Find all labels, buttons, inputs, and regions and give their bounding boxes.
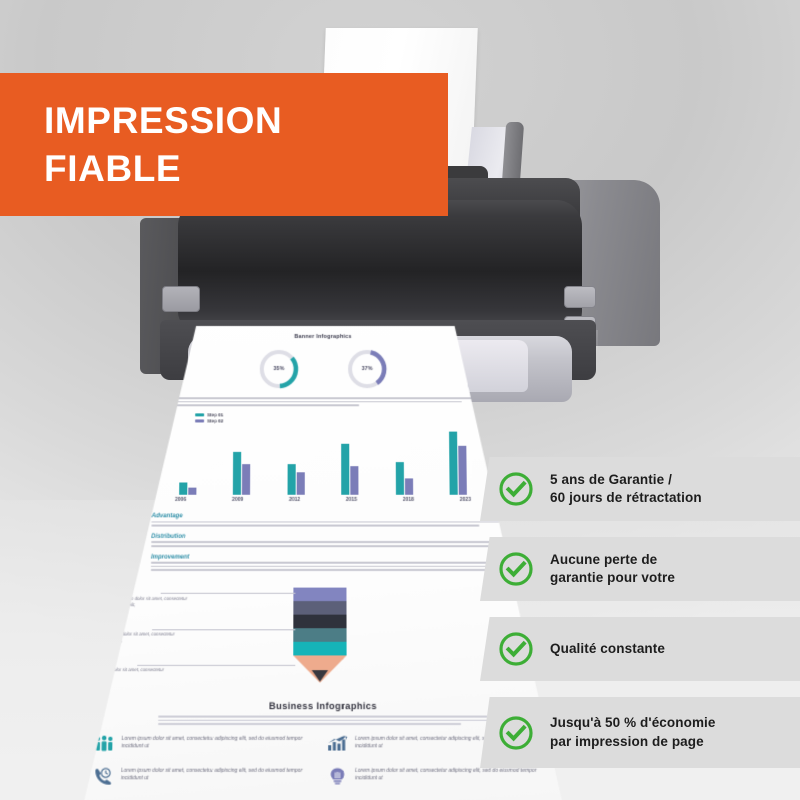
- pencil-graphic: [293, 588, 346, 682]
- donut-label: 35%: [257, 347, 301, 391]
- bar: [242, 464, 250, 495]
- chart-legend: Step 01 Step 02: [195, 412, 560, 424]
- panel-button-right-top-icon[interactable]: [564, 286, 596, 308]
- list-item: Lorem ipsum dolor sit amet, consectetur …: [326, 767, 554, 789]
- bar-chart-tick-label: 2012: [289, 497, 300, 503]
- bar: [287, 464, 295, 495]
- feature-label: Aucune perte de garantie pour votre: [550, 551, 675, 587]
- leader-line: [137, 665, 295, 666]
- bar: [405, 479, 413, 495]
- check-circle-icon: [498, 715, 534, 751]
- feature-item-savings[interactable]: Jusqu'à 50 % d'économie par impression d…: [480, 697, 800, 768]
- headline-line-2: FIABLE: [44, 145, 448, 192]
- bar-chart-tick-label: 2006: [175, 497, 186, 503]
- printer-main-body: [178, 200, 582, 330]
- feature-item-warranty[interactable]: 5 ans de Garantie / 60 jours de rétracta…: [480, 457, 800, 521]
- poster-canvas: Banner Infographics 35% 37%: [0, 0, 800, 800]
- feature-label: 5 ans de Garantie / 60 jours de rétracta…: [550, 471, 702, 507]
- feature-list: 5 ans de Garantie / 60 jours de rétracta…: [480, 457, 800, 768]
- icon-feature-text: Lorem ipsum dolor sit amet, consectetur …: [121, 735, 320, 751]
- donut-label: 37%: [345, 347, 389, 391]
- paper-feed-lip: [502, 122, 524, 184]
- leader-line: [152, 629, 295, 630]
- list-item: Lorem ipsum dolor sit amet, consectetur …: [92, 735, 320, 756]
- check-circle-icon: [498, 551, 534, 587]
- list-item: Lorem ipsum dolor sit amet, consectetur …: [92, 767, 320, 789]
- feature-item-quality[interactable]: Qualité constante: [480, 617, 800, 681]
- headline-banner: IMPRESSION FIABLE: [0, 73, 448, 216]
- bar-group: [395, 462, 412, 495]
- donut-chart: 35%: [257, 347, 301, 391]
- legend-item: Step 02: [195, 419, 560, 424]
- legend-label: Step 01: [207, 412, 223, 417]
- bar: [458, 446, 467, 495]
- phone-clock-icon: [92, 767, 115, 789]
- panel-button-left-icon[interactable]: [162, 286, 200, 312]
- feature-item-no-warranty-loss[interactable]: Aucune perte de garantie pour votre: [480, 537, 800, 601]
- pencil-lead-icon: [312, 670, 328, 682]
- headline-line-1: IMPRESSION: [44, 97, 448, 144]
- bar: [395, 462, 403, 495]
- bar-group: [179, 483, 196, 495]
- bar: [449, 432, 458, 495]
- legend-item: Step 01: [195, 412, 560, 417]
- legend-label: Step 02: [207, 419, 223, 424]
- bar-group: [233, 452, 250, 495]
- bar-chart-xaxis-labels: 200620092012201520182023: [171, 497, 475, 503]
- lightbulb-idea-icon: [326, 767, 349, 789]
- bar-chart-tick-label: 2009: [232, 497, 243, 503]
- bar-chart-growth-icon: [326, 735, 349, 756]
- feature-label: Qualité constante: [550, 640, 665, 658]
- bar: [188, 488, 196, 495]
- bar-group: [341, 444, 358, 495]
- bar-group: [449, 432, 467, 495]
- donut-chart: 37%: [345, 347, 389, 391]
- legend-swatch-icon: [195, 413, 204, 416]
- icon-feature-text: Lorem ipsum dolor sit amet, consectetur …: [355, 767, 554, 783]
- bar: [350, 466, 358, 495]
- business-section-text: [158, 715, 487, 724]
- bar-chart: [171, 428, 475, 495]
- bar: [296, 473, 304, 495]
- bar-chart-tick-label: 2018: [403, 497, 414, 503]
- bar: [179, 483, 187, 495]
- leader-line: [161, 593, 296, 594]
- bar-group: [287, 464, 304, 495]
- bar: [341, 444, 349, 495]
- bar-chart-tick-label: 2015: [346, 497, 357, 503]
- legend-swatch-icon: [195, 420, 204, 423]
- icon-feature-text: Lorem ipsum dolor sit amet, consectetur …: [121, 767, 320, 783]
- feature-label: Jusqu'à 50 % d'économie par impression d…: [550, 714, 716, 750]
- check-circle-icon: [498, 631, 534, 667]
- check-circle-icon: [498, 471, 534, 507]
- bar: [233, 452, 241, 495]
- page-intro-text: [172, 397, 475, 406]
- bar-chart-tick-label: 2023: [460, 497, 471, 503]
